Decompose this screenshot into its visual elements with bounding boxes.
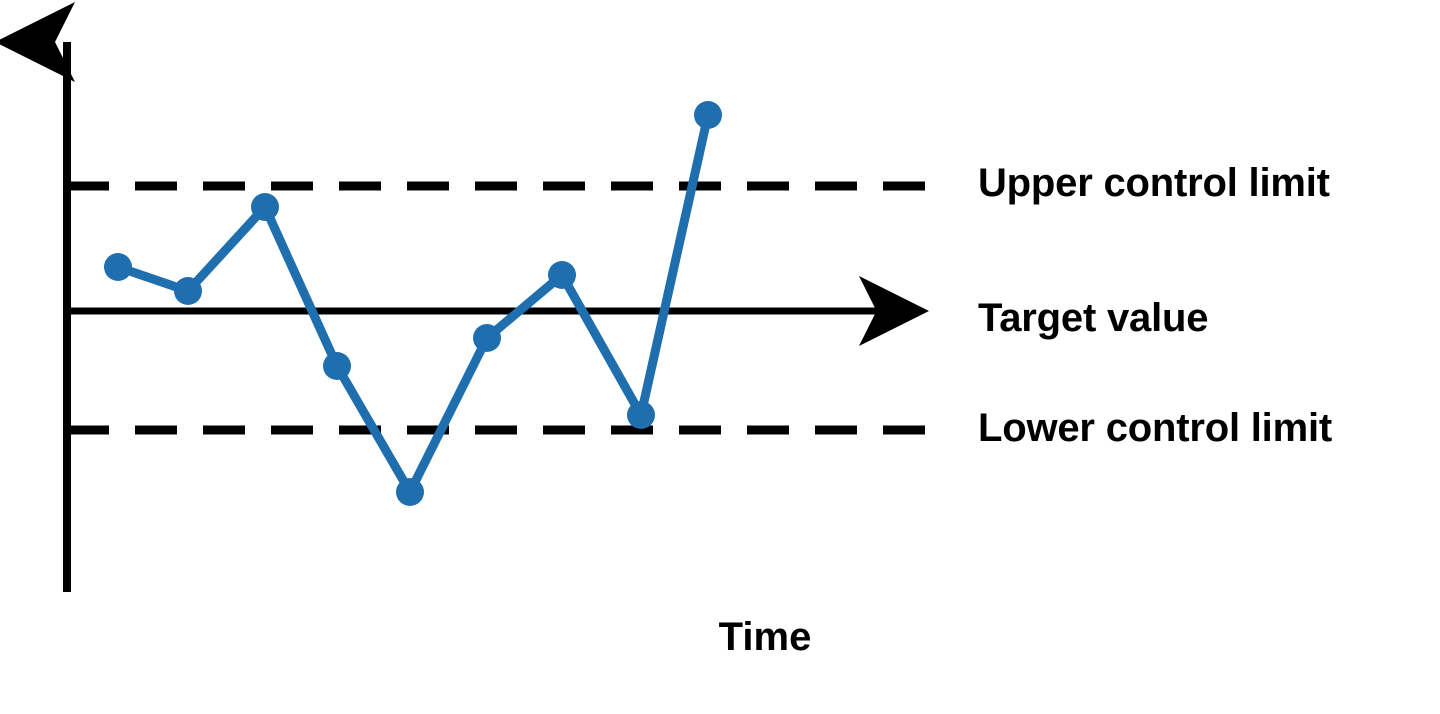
target-value-label: Target value: [978, 298, 1208, 338]
data-point[interactable]: [548, 261, 576, 289]
data-point[interactable]: [627, 401, 655, 429]
data-point[interactable]: [104, 253, 132, 281]
x-axis-title: Time: [719, 617, 812, 657]
series-polyline: [118, 115, 708, 492]
upper-control-limit-label: Upper control limit: [978, 163, 1330, 203]
control-chart: Upper control limit Target value Lower c…: [0, 0, 1440, 714]
x-axis-title-wrapper: Time: [0, 617, 1440, 657]
data-point[interactable]: [396, 478, 424, 506]
data-point[interactable]: [694, 101, 722, 129]
data-point[interactable]: [174, 277, 202, 305]
data-point[interactable]: [323, 352, 351, 380]
data-point[interactable]: [251, 193, 279, 221]
data-point[interactable]: [473, 324, 501, 352]
lower-control-limit-label: Lower control limit: [978, 408, 1332, 448]
control-chart-canvas: [0, 0, 1440, 714]
